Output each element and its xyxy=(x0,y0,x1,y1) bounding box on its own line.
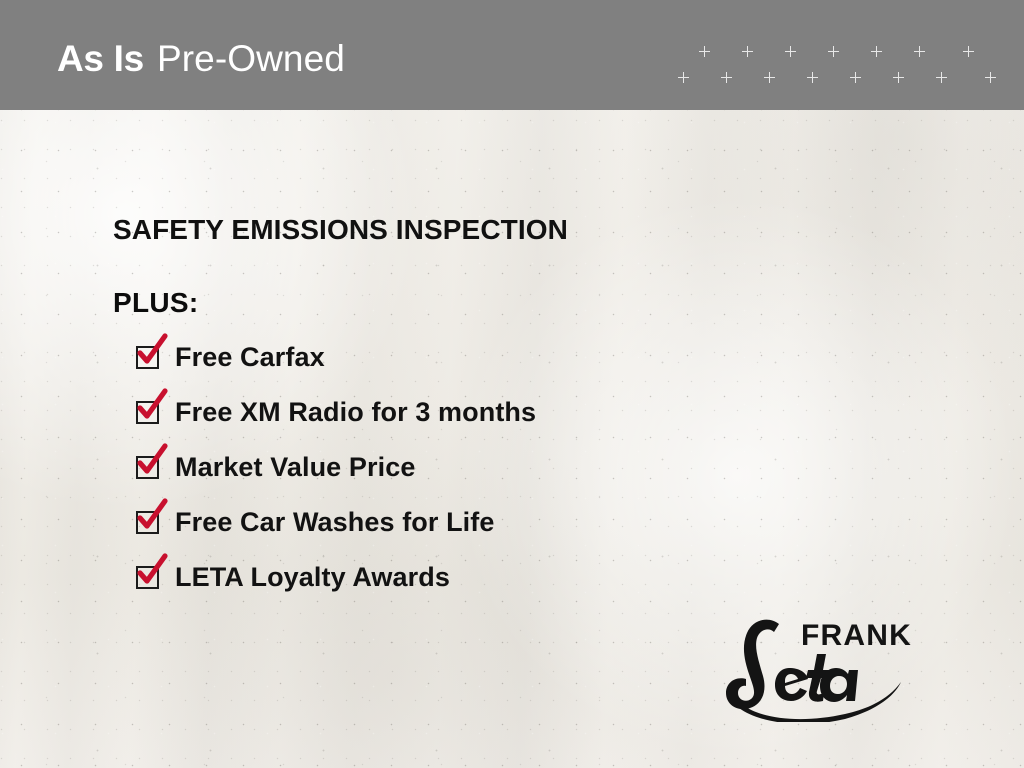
list-item-label: Market Value Price xyxy=(175,451,415,484)
checkmark-icon xyxy=(135,445,169,479)
checkbox-checked[interactable] xyxy=(136,566,159,589)
plus-icon xyxy=(893,72,904,83)
list-item-label: Free Car Washes for Life xyxy=(175,506,495,539)
frank-leta-logo-icon: FRANK xyxy=(705,602,920,722)
logo-frank-text: FRANK xyxy=(801,619,912,652)
checkmark-icon xyxy=(135,335,169,369)
plus-icon xyxy=(785,46,796,57)
checkbox-checked[interactable] xyxy=(136,511,159,534)
header-plus-decoration xyxy=(672,38,1012,94)
page-title: As IsPre-Owned xyxy=(57,36,345,81)
slide-canvas: As IsPre-Owned SAFETY EMISSIONS INSPECTI… xyxy=(0,0,1024,768)
plus-icon xyxy=(764,72,775,83)
section-subtitle: SAFETY EMISSIONS INSPECTION xyxy=(113,213,568,247)
list-item: Market Value Price xyxy=(136,451,736,484)
plus-icon xyxy=(721,72,732,83)
list-item: Free XM Radio for 3 months xyxy=(136,396,736,429)
checkmark-icon xyxy=(135,555,169,589)
plus-icon xyxy=(678,72,689,83)
page-title-light: Pre-Owned xyxy=(157,38,345,79)
plus-icon xyxy=(807,72,818,83)
plus-icon xyxy=(936,72,947,83)
plus-icon xyxy=(699,46,710,57)
checkmark-icon xyxy=(135,500,169,534)
page-title-bold: As Is xyxy=(57,38,144,79)
list-item-label: LETA Loyalty Awards xyxy=(175,561,450,594)
checkmark-icon xyxy=(135,390,169,424)
plus-icon xyxy=(963,46,974,57)
plus-icon xyxy=(985,72,996,83)
plus-icon xyxy=(914,46,925,57)
checkbox-checked[interactable] xyxy=(136,456,159,479)
benefits-checklist: Free Carfax Free XM Radio for 3 months M… xyxy=(136,341,736,616)
plus-icon xyxy=(871,46,882,57)
plus-heading: PLUS: xyxy=(113,286,199,320)
checkbox-checked[interactable] xyxy=(136,346,159,369)
list-item-label: Free Carfax xyxy=(175,341,325,374)
header-bar: As IsPre-Owned xyxy=(0,0,1024,110)
plus-icon xyxy=(828,46,839,57)
plus-icon xyxy=(742,46,753,57)
list-item: LETA Loyalty Awards xyxy=(136,561,736,594)
list-item-label: Free XM Radio for 3 months xyxy=(175,396,536,429)
brand-logo: FRANK xyxy=(705,602,920,722)
plus-icon xyxy=(850,72,861,83)
list-item: Free Carfax xyxy=(136,341,736,374)
list-item: Free Car Washes for Life xyxy=(136,506,736,539)
checkbox-checked[interactable] xyxy=(136,401,159,424)
